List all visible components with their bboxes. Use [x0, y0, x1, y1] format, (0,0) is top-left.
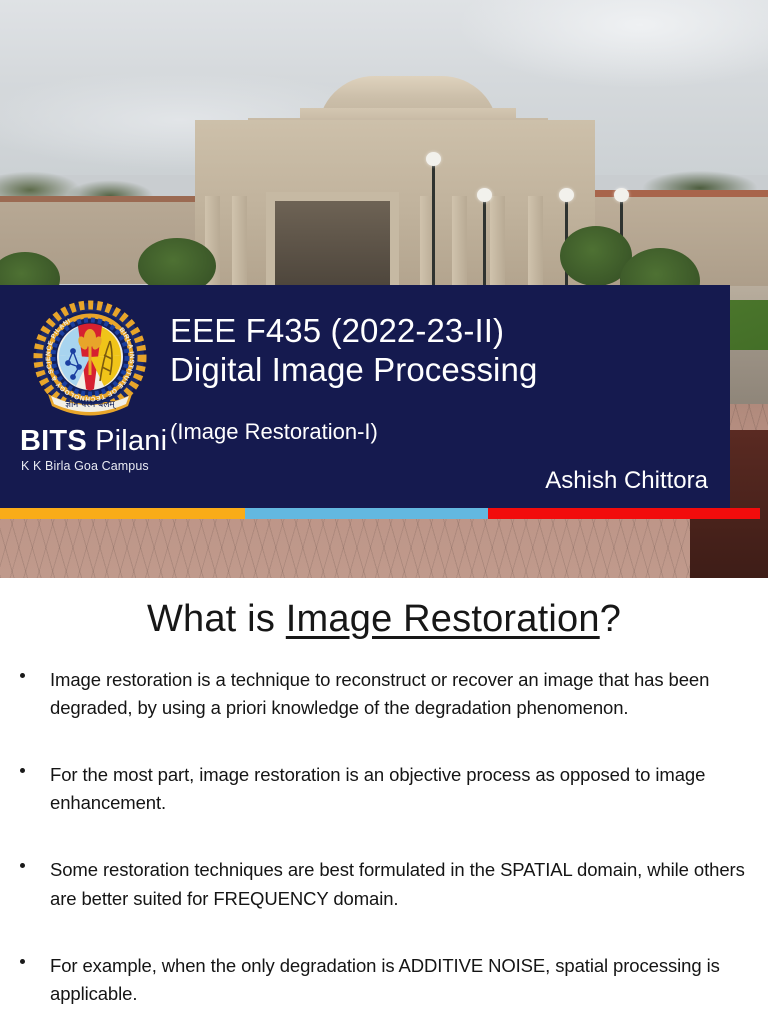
building-column: [452, 196, 467, 286]
course-title-line1: EEE F435 (2022-23-II): [170, 312, 537, 351]
heading-underlined-term: Image Restoration: [286, 598, 600, 640]
accent-segment-blue: [245, 508, 488, 519]
title-banner: ज्ञानं परमं बलम् BIRLA INSTITUTE OF TECH…: [0, 285, 730, 508]
lamp-head-icon: [559, 188, 574, 202]
slide-heading: What is Image Restoration?: [0, 598, 768, 641]
bits-wordmark-light: Pilani: [87, 425, 167, 457]
author-name: Ashish Chittora: [545, 467, 708, 495]
bits-wordmark-bold: BITS: [20, 425, 87, 457]
bullet-dot-icon: [20, 768, 25, 773]
course-title-line2: Digital Image Processing: [170, 351, 537, 390]
bullet-text: Some restoration techniques are best for…: [50, 856, 768, 912]
bits-pilani-logo: ज्ञानं परमं बलम् BIRLA INSTITUTE OF TECH…: [16, 297, 164, 473]
building-column: [528, 196, 543, 286]
accent-color-bar: [0, 508, 760, 519]
bullet-item: For example, when the only degradation i…: [0, 952, 768, 1008]
bullet-list: Image restoration is a technique to reco…: [0, 666, 768, 1024]
bullet-dot-icon: [20, 959, 25, 964]
lamp-head-icon: [614, 188, 629, 202]
bullet-text: Image restoration is a technique to reco…: [50, 666, 768, 722]
bullet-dot-icon: [20, 673, 25, 678]
slide-content-area: What is Image Restoration? Image restora…: [0, 578, 768, 1024]
accent-segment-red: [488, 508, 760, 519]
building-column: [232, 196, 247, 286]
portico-frame: [266, 192, 399, 286]
presentation-slide: ज्ञानं परमं बलम् BIRLA INSTITUTE OF TECH…: [0, 0, 768, 1024]
bits-crest-icon: ज्ञानं परमं बलम् BIRLA INSTITUTE OF TECH…: [26, 297, 154, 425]
course-subtitle: (Image Restoration-I): [170, 419, 378, 445]
bullet-text: For the most part, image restoration is …: [50, 761, 768, 817]
lamp-head-icon: [426, 152, 441, 166]
bullet-dot-icon: [20, 863, 25, 868]
heading-suffix: ?: [600, 598, 621, 640]
campus-label: K K Birla Goa Campus: [16, 459, 164, 473]
building-column: [490, 196, 505, 286]
accent-segment-amber: [0, 508, 245, 519]
bullet-item: Image restoration is a technique to reco…: [0, 666, 768, 722]
heading-prefix: What is: [147, 598, 286, 640]
bullet-item: Some restoration techniques are best for…: [0, 856, 768, 912]
lamp-head-icon: [477, 188, 492, 202]
bits-wordmark: BITS Pilani: [16, 427, 164, 457]
bullet-text: For example, when the only degradation i…: [50, 952, 768, 1008]
bullet-item: For the most part, image restoration is …: [0, 761, 768, 817]
course-title: EEE F435 (2022-23-II) Digital Image Proc…: [170, 312, 537, 389]
